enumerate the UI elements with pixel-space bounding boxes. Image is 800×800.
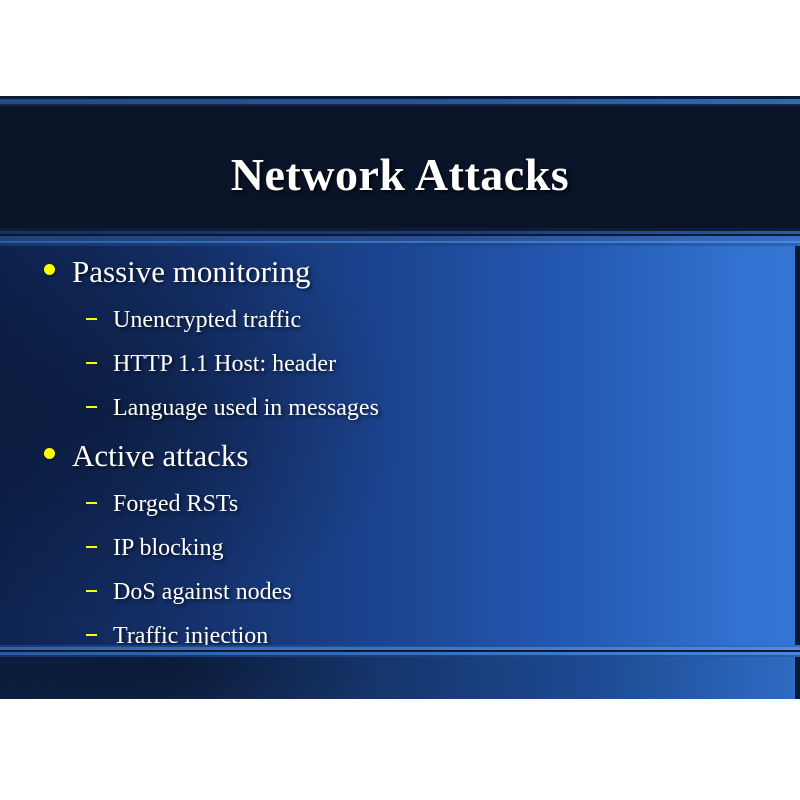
bullet-label-level2: DoS against nodes [113,570,292,614]
dash-icon [86,634,97,636]
dash-icon [86,318,97,320]
dash-icon [86,590,97,592]
presentation-slide: Network Attacks Passive monitoring Unenc… [0,96,800,699]
footer-right-edge [795,657,800,699]
bullet-item-level2: HTTP 1.1 Host: header [0,342,800,386]
bullet-group-passive-monitoring: Passive monitoring Unencrypted traffic H… [0,246,800,430]
bullet-label-level2: Language used in messages [113,386,379,430]
bullet-item-level2: IP blocking [0,526,800,570]
footer-area [0,657,800,699]
bullet-item-level1: Passive monitoring [0,246,800,298]
bullet-item-level2: DoS against nodes [0,570,800,614]
dash-icon [86,362,97,364]
bullet-label-level1: Passive monitoring [72,246,311,298]
title-banner: Network Attacks [0,106,800,228]
page-title: Network Attacks [0,148,800,201]
bullet-label-level2: Forged RSTs [113,482,238,526]
dash-icon [86,502,97,504]
bullet-list: Passive monitoring Unencrypted traffic H… [0,246,800,645]
bullet-group-active-attacks: Active attacks Forged RSTs IP blocking D… [0,430,800,658]
bullet-label-level2: HTTP 1.1 Host: header [113,342,336,386]
dash-icon [86,546,97,548]
bullet-label-level2: Unencrypted traffic [113,298,301,342]
bullet-item-level1: Active attacks [0,430,800,482]
dash-icon [86,406,97,408]
bullet-item-level2: Forged RSTs [0,482,800,526]
bullet-dot-icon [44,448,55,459]
bullet-item-level2: Unencrypted traffic [0,298,800,342]
bullet-label-level2: IP blocking [113,526,223,570]
bullet-label-level1: Active attacks [72,430,248,482]
bullet-item-level2: Language used in messages [0,386,800,430]
bullet-dot-icon [44,264,55,275]
